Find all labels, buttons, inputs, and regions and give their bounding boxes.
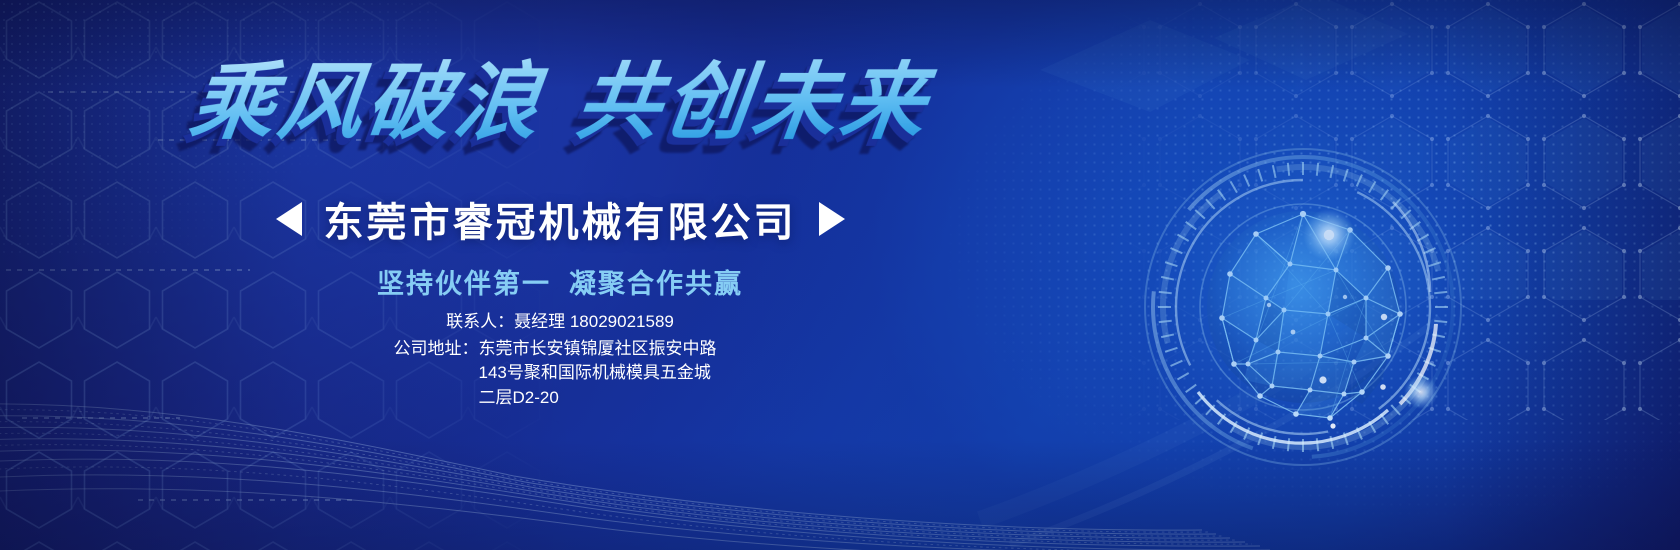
headline-part-2: 共创未来 bbox=[571, 55, 935, 149]
address-text: 东莞市长安镇锦厦社区振安中路143号聚和国际机械模具五金城二层D2-20 bbox=[479, 337, 727, 411]
slogan-part-2: 凝聚合作共赢 bbox=[569, 269, 743, 299]
address-label: 公司地址： bbox=[394, 337, 479, 362]
company-name-row: 东莞市睿冠机械有限公司 bbox=[0, 190, 1120, 248]
contact-info: 联系人：聂经理 18029021589 公司地址： 东莞市长安镇锦厦社区振安中路… bbox=[0, 310, 1120, 411]
headline-part-1: 乘风破浪 bbox=[185, 55, 549, 149]
company-name: 东莞市睿冠机械有限公司 bbox=[324, 190, 797, 248]
right-triangle-icon bbox=[819, 202, 845, 236]
network-globe-graphic bbox=[1138, 142, 1468, 472]
slogan-part-1: 坚持伙伴第一 bbox=[377, 269, 551, 299]
banner-content: 乘风破浪共创未来 东莞市睿冠机械有限公司 坚持伙伴第一凝聚合作共赢 联系人：聂经… bbox=[0, 0, 1120, 550]
globe-svg bbox=[1138, 142, 1468, 472]
contact-person-line: 联系人：聂经理 18029021589 bbox=[0, 310, 1120, 335]
headline: 乘风破浪共创未来 bbox=[0, 58, 1125, 146]
left-triangle-icon bbox=[276, 202, 302, 236]
company-address-row: 公司地址： 东莞市长安镇锦厦社区振安中路143号聚和国际机械模具五金城二层D2-… bbox=[0, 337, 1120, 411]
promo-banner: 乘风破浪共创未来 东莞市睿冠机械有限公司 坚持伙伴第一凝聚合作共赢 联系人：聂经… bbox=[0, 0, 1680, 550]
slogan: 坚持伙伴第一凝聚合作共赢 bbox=[0, 262, 1120, 301]
